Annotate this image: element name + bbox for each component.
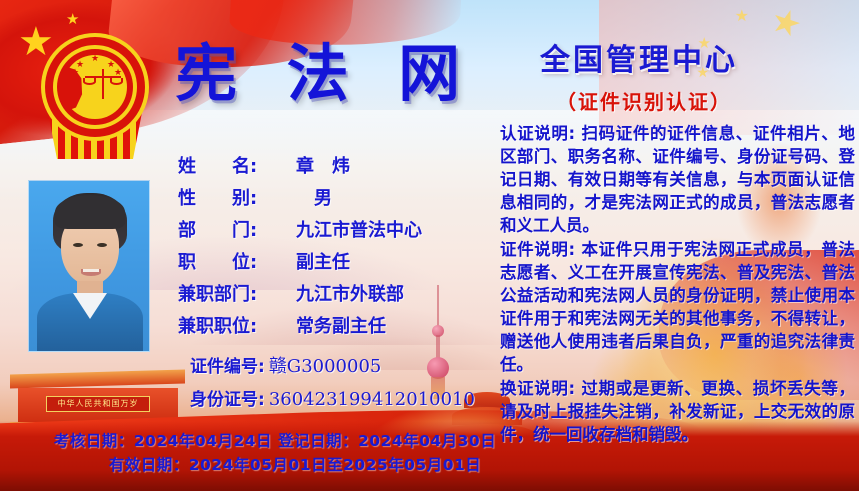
personal-info-list: 姓 名: 章 炜 性 别: 男 部 门: 九江市普法中心 职 位: 副主任 兼职… xyxy=(178,152,508,344)
info-row-name: 姓 名: 章 炜 xyxy=(178,152,508,179)
value-name: 章 炜 xyxy=(296,152,350,178)
label-gender: 性 别: xyxy=(178,184,296,210)
info-row-part-time-department: 兼职部门: 九江市外联部 xyxy=(178,280,508,307)
label-part-time-position: 兼职职位: xyxy=(178,312,296,338)
date-line-validity: 有效日期：2024年05月01日至2025年05月01日 xyxy=(0,453,520,477)
label-position: 职 位: xyxy=(178,248,296,274)
notice-replacement: 换证说明: 过期或是更新、更换、损坏丢失等，请及时上报挂失注销，补发新证，上交无… xyxy=(500,377,855,446)
value-part-time-position: 常务副主任 xyxy=(296,312,386,338)
center-title: 全国管理中心 xyxy=(540,45,738,77)
id-number-row: 身份证号: 360423199412010010 xyxy=(190,385,475,410)
page-title: 宪 法 网 xyxy=(175,43,474,105)
value-cert-number: 赣G3000005 xyxy=(269,352,382,378)
dates-block: 考核日期：2024年04月24日 登记日期：2024年04月30日 有效日期：2… xyxy=(0,429,520,477)
value-part-time-department: 九江市外联部 xyxy=(296,280,404,306)
certificate-card: ★ ★ ★ ★ ★ ★ ★ ★ ★ 中华人民共和国万岁 xyxy=(0,0,859,491)
identifier-block: 证件编号: 赣G3000005 身份证号: 360423199412010010 xyxy=(190,352,475,417)
id-photo xyxy=(28,180,150,352)
notice-authentication: 认证说明: 扫码证件的证件信息、证件相片、地区部门、职务名称、证件编号、身份证号… xyxy=(500,122,855,237)
info-row-department: 部 门: 九江市普法中心 xyxy=(178,216,508,243)
value-id-number: 360423199412010010 xyxy=(269,389,475,410)
legal-scales-emblem-icon: ★★★ ★★ xyxy=(31,25,159,165)
info-row-position: 职 位: 副主任 xyxy=(178,248,508,275)
date-line-review-register: 考核日期：2024年04月24日 登记日期：2024年04月30日 xyxy=(0,429,520,453)
label-part-time-department: 兼职部门: xyxy=(178,280,296,306)
info-row-gender: 性 别: 男 xyxy=(178,184,508,211)
center-subtitle: （证件识别认证） xyxy=(556,86,732,115)
value-position: 副主任 xyxy=(296,248,350,274)
value-department: 九江市普法中心 xyxy=(296,216,422,242)
notice-column: 认证说明: 扫码证件的证件信息、证件相片、地区部门、职务名称、证件编号、身份证号… xyxy=(500,122,855,447)
cert-number-row: 证件编号: 赣G3000005 xyxy=(190,352,475,378)
value-gender: 男 xyxy=(296,184,332,210)
label-cert-number: 证件编号: xyxy=(190,352,265,377)
notice-certificate: 证件说明: 本证件只用于宪法网正式成员，普法志愿者、义工在开展宣传宪法、普及宪法… xyxy=(500,238,855,376)
label-name: 姓 名: xyxy=(178,152,296,178)
info-row-part-time-position: 兼职职位: 常务副主任 xyxy=(178,312,508,339)
label-id-number: 身份证号: xyxy=(190,385,265,410)
label-department: 部 门: xyxy=(178,216,296,242)
